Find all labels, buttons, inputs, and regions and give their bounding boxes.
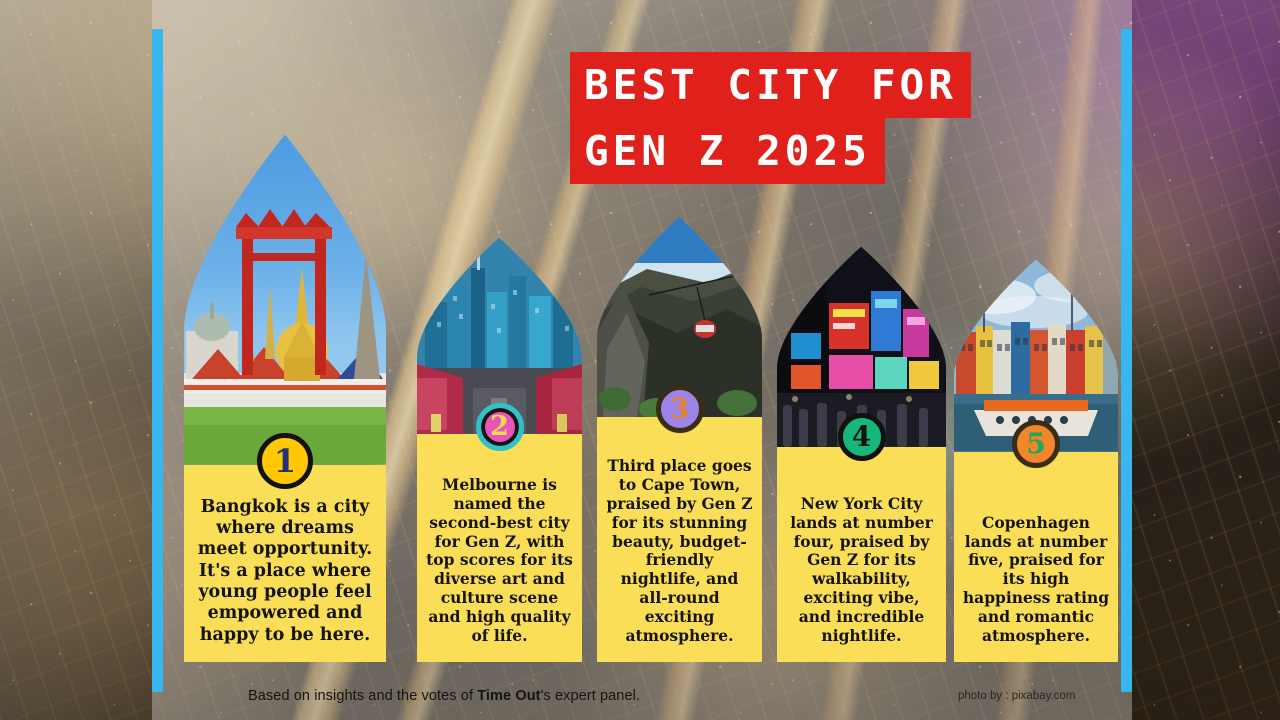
bangkok-illustration (184, 135, 386, 465)
city-description-2: Melbourne is named the second-best city … (417, 434, 582, 662)
city-card-4[interactable]: 4 New York City lands at number four, pr… (777, 247, 946, 662)
city-description-text-2: Melbourne is named the second-best city … (426, 475, 573, 645)
rank-number-1: 1 (274, 442, 296, 480)
title-line-2: GEN Z 2025 (570, 118, 885, 184)
rank-badge-5: 5 (1012, 420, 1060, 468)
city-description-text-3: Third place goes to Cape Town, praised b… (606, 456, 752, 645)
poster-canvas: BEST CITY FOR GEN Z 2025 (0, 0, 1280, 720)
right-blue-rail (1121, 29, 1132, 692)
source-suffix: 's expert panel. (541, 688, 640, 704)
rank-number-2: 2 (490, 411, 509, 442)
source-prefix: Based on insights and the votes of (248, 688, 477, 704)
city-description-4: New York City lands at number four, prai… (777, 447, 946, 662)
city-card-1[interactable]: 1 Bangkok is a city where dreams meet op… (184, 135, 386, 662)
city-description-1: Bangkok is a city where dreams meet oppo… (184, 465, 386, 662)
city-description-5: Copenhagen lands at number five, praised… (954, 452, 1118, 662)
rank-number-4: 4 (852, 420, 871, 453)
left-blue-rail (152, 29, 163, 692)
source-footnote: Based on insights and the votes of Time … (248, 688, 640, 704)
city-card-3[interactable]: 3 Third place goes to Cape Town, praised… (597, 217, 762, 662)
title-line-1: BEST CITY FOR (570, 52, 971, 118)
rank-badge-2: 2 (476, 403, 524, 451)
photo-credit: photo by : pixabay.com (958, 690, 1075, 702)
rank-number-5: 5 (1026, 427, 1045, 460)
city-description-3: Third place goes to Cape Town, praised b… (597, 417, 762, 662)
rank-badge-4: 4 (838, 413, 886, 461)
city-card-5[interactable]: 5 Copenhagen lands at number five, prais… (954, 260, 1118, 662)
rank-number-3: 3 (670, 392, 689, 425)
city-description-text-1: Bangkok is a city where dreams meet oppo… (198, 497, 373, 645)
city-description-text-4: New York City lands at number four, prai… (790, 494, 933, 645)
rank-badge-1: 1 (257, 433, 313, 489)
city-image-1 (184, 135, 386, 465)
city-card-2[interactable]: 2 Melbourne is named the second-best cit… (417, 238, 582, 662)
rank-badge-3: 3 (656, 385, 704, 433)
source-brand: Time Out (477, 688, 540, 704)
poster-title: BEST CITY FOR GEN Z 2025 (570, 52, 971, 184)
city-description-text-5: Copenhagen lands at number five, praised… (963, 513, 1109, 645)
